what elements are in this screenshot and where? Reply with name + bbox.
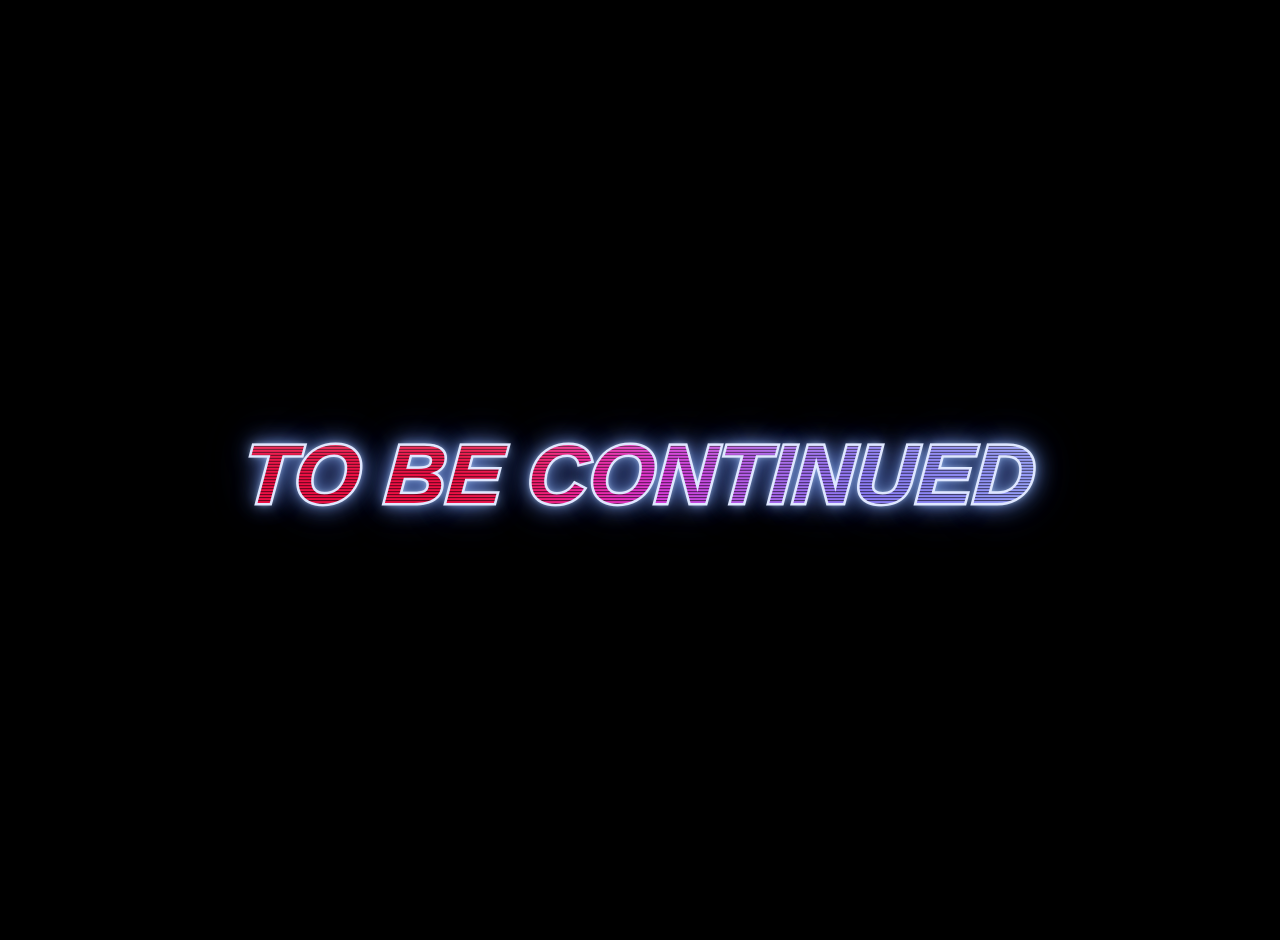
- title-text-sheen-layer: TO BE CONTINUED: [241, 433, 1038, 516]
- title-card-container: TO BE CONTINUED TO BE CONTINUED TO BE CO…: [0, 0, 1280, 940]
- to-be-continued-text: TO BE CONTINUED TO BE CONTINUED TO BE CO…: [252, 433, 1028, 529]
- title-card-screen: TO BE CONTINUED TO BE CONTINUED TO BE CO…: [0, 0, 1280, 940]
